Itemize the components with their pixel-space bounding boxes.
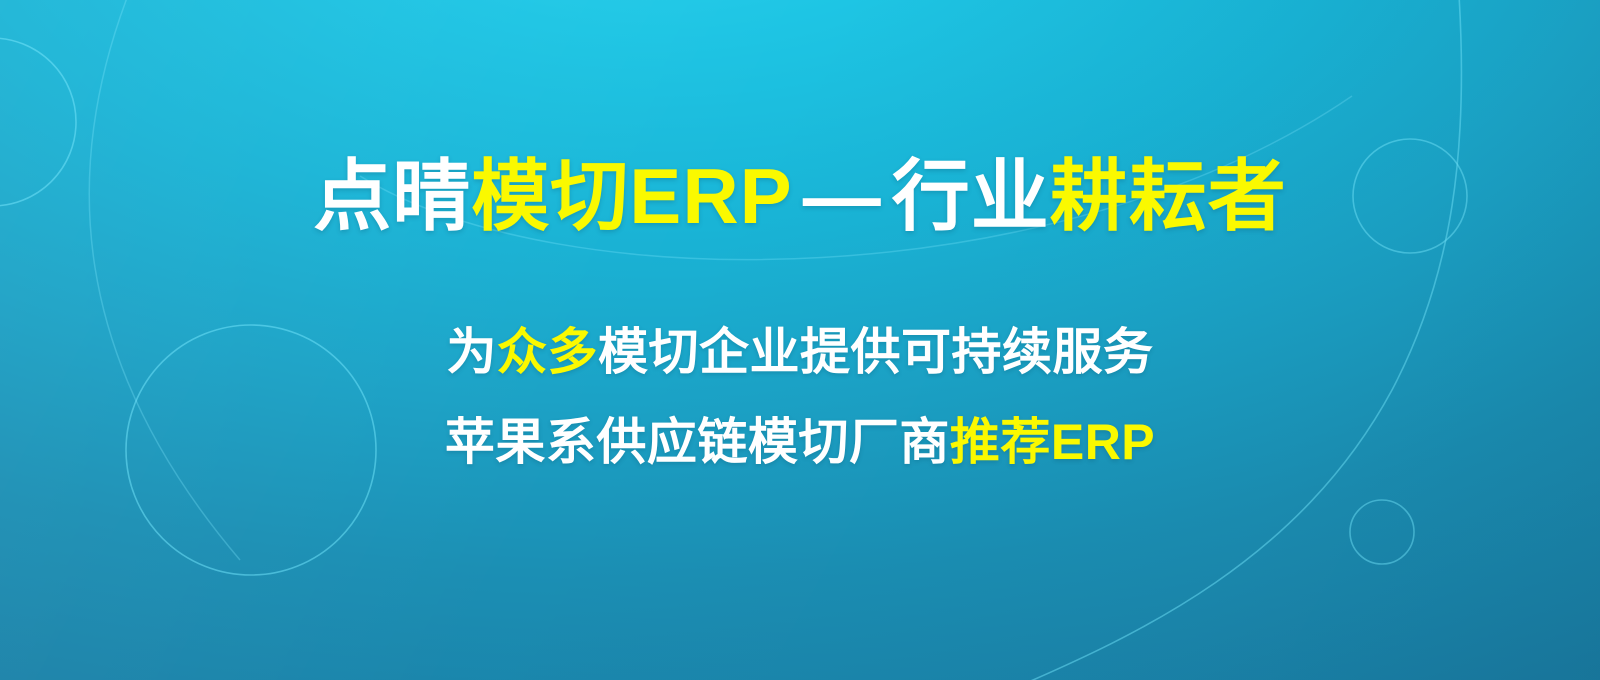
promo-banner: 点晴模切ERP—行业耕耘者 为众多模切企业提供可持续服务 苹果系供应链模切厂商推… bbox=[0, 0, 1600, 680]
subtitle-1-segment-2: 众多 bbox=[497, 324, 598, 380]
subtitle-line-2: 苹果系供应链模切厂商推荐ERP bbox=[445, 417, 1155, 467]
headline-segment-4: 行业 bbox=[892, 152, 1050, 240]
subtitle-line-1: 为众多模切企业提供可持续服务 bbox=[447, 327, 1154, 377]
banner-content: 点晴模切ERP—行业耕耘者 为众多模切企业提供可持续服务 苹果系供应链模切厂商推… bbox=[0, 0, 1600, 680]
page-title: 点晴模切ERP—行业耕耘者 bbox=[313, 157, 1286, 235]
subtitle-2-segment-1: 苹果系供应链模切厂商 bbox=[445, 414, 950, 470]
subtitle-1-segment-3: 模切企业提供可持续服务 bbox=[598, 324, 1154, 380]
headline-segment-2: 模切ERP bbox=[471, 152, 792, 240]
headline-segment-5: 耕耘者 bbox=[1050, 152, 1287, 240]
subtitle-2-segment-2: 推荐ERP bbox=[950, 414, 1155, 470]
headline-segment-1: 点晴 bbox=[313, 152, 471, 240]
subtitle-1-segment-1: 为 bbox=[447, 324, 498, 380]
headline-dash: — bbox=[793, 152, 892, 240]
